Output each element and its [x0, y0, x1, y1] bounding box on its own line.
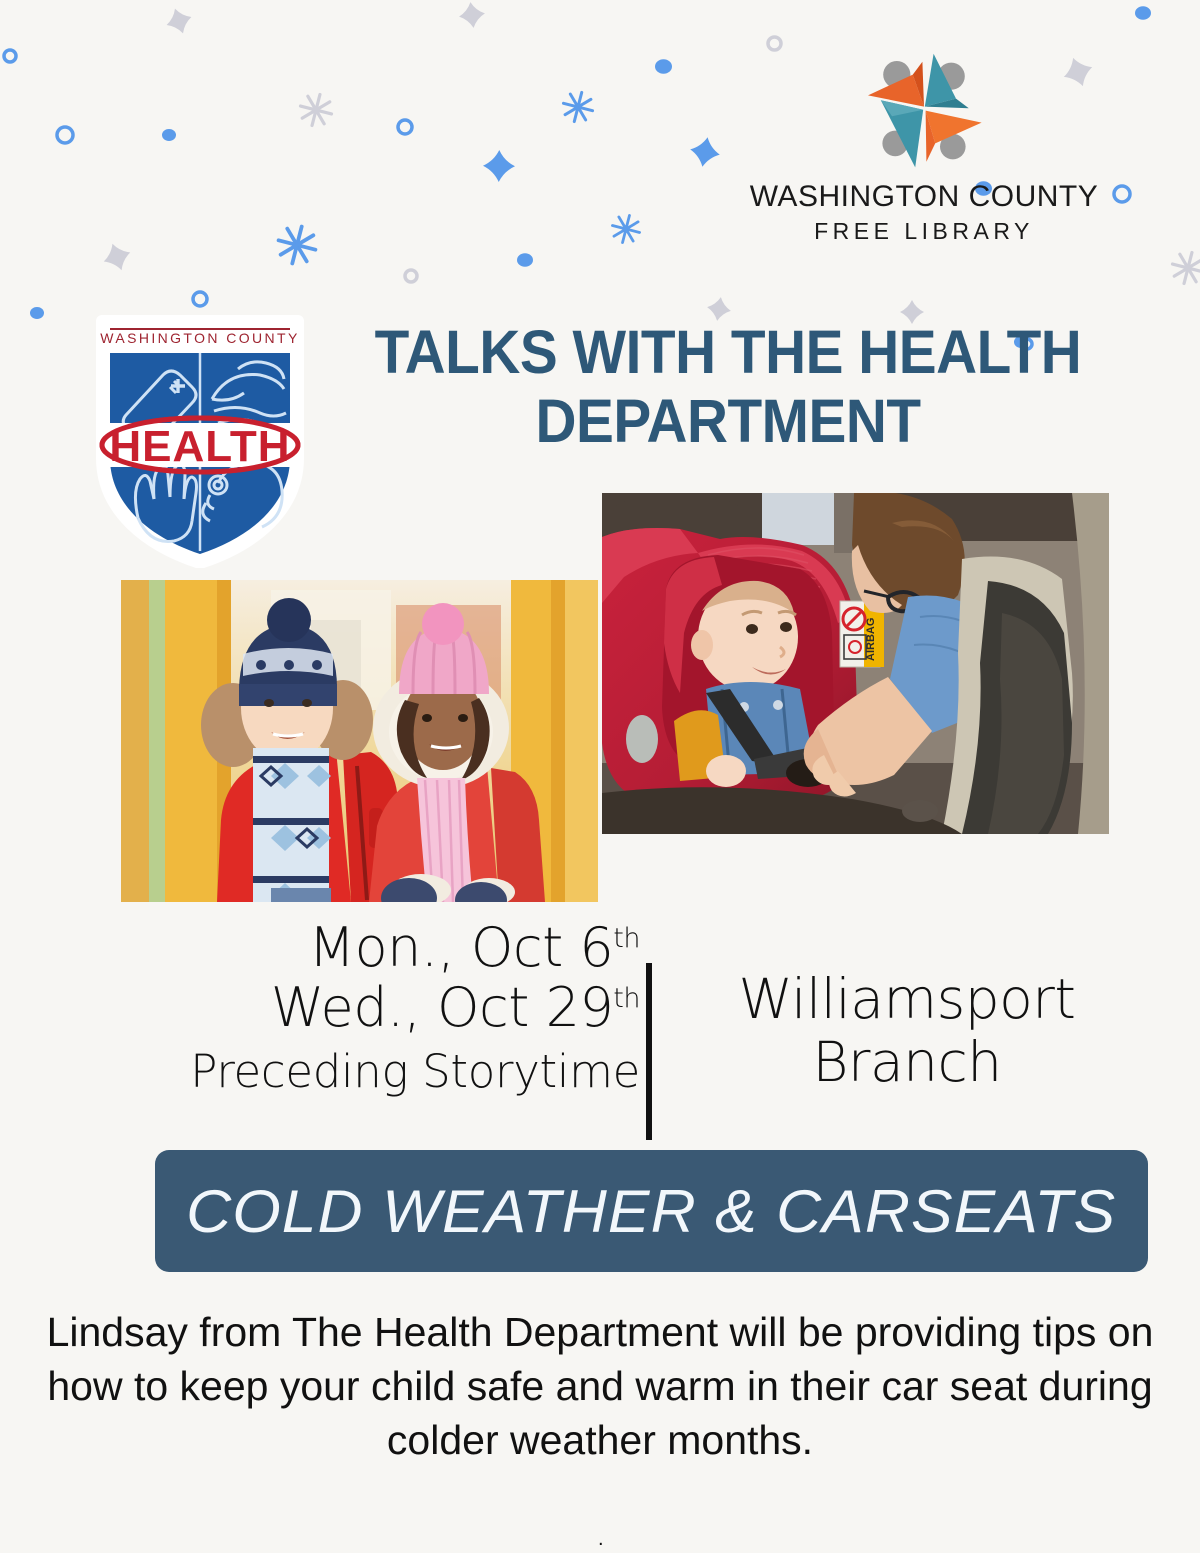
date-line-1: Mon., Oct 6th — [80, 918, 640, 978]
svg-text:WASHINGTON COUNTY: WASHINGTON COUNTY — [100, 330, 299, 346]
health-department-shield-icon: WASHINGTON COUNTY HEALTH — [88, 313, 312, 568]
page-title: TALKS WITH THE HEALTH DEPARTMENT — [330, 318, 1126, 456]
date-1-text: Mon., Oct 6 — [309, 916, 614, 979]
library-name: WASHINGTON COUNTY — [728, 180, 1120, 214]
topic-banner: COLD WEATHER & CARSEATS — [155, 1150, 1148, 1272]
location-line-1: Williamsport — [672, 968, 1142, 1031]
schedule-note: Preceding Storytime — [80, 1045, 640, 1099]
svg-text:AIRBAG: AIRBAG — [865, 618, 877, 661]
topic-banner-label: COLD WEATHER & CARSEATS — [186, 1177, 1116, 1246]
vertical-divider — [646, 963, 652, 1140]
baby-in-car-seat-photo: AIRBAG — [602, 493, 1109, 834]
event-location: Williamsport Branch — [672, 968, 1142, 1095]
location-line-2: Branch — [672, 1031, 1142, 1094]
svg-text:HEALTH: HEALTH — [109, 422, 290, 471]
event-description: Lindsay from The Health Department will … — [44, 1305, 1156, 1467]
four-point-compass-star-icon — [844, 48, 1004, 178]
date-2-text: Wed., Oct 29 — [271, 976, 613, 1039]
date-1-ordinal: th — [613, 923, 640, 954]
library-logo: WASHINGTON COUNTY FREE LIBRARY — [728, 48, 1120, 245]
event-dates: Mon., Oct 6th Wed., Oct 29th Preceding S… — [80, 918, 640, 1099]
date-line-2: Wed., Oct 29th — [80, 978, 640, 1038]
date-2-ordinal: th — [613, 983, 640, 1014]
library-subtitle: FREE LIBRARY — [728, 218, 1120, 245]
footer-dot: . — [598, 1528, 604, 1551]
two-children-in-winter-clothing-photo — [121, 580, 598, 902]
